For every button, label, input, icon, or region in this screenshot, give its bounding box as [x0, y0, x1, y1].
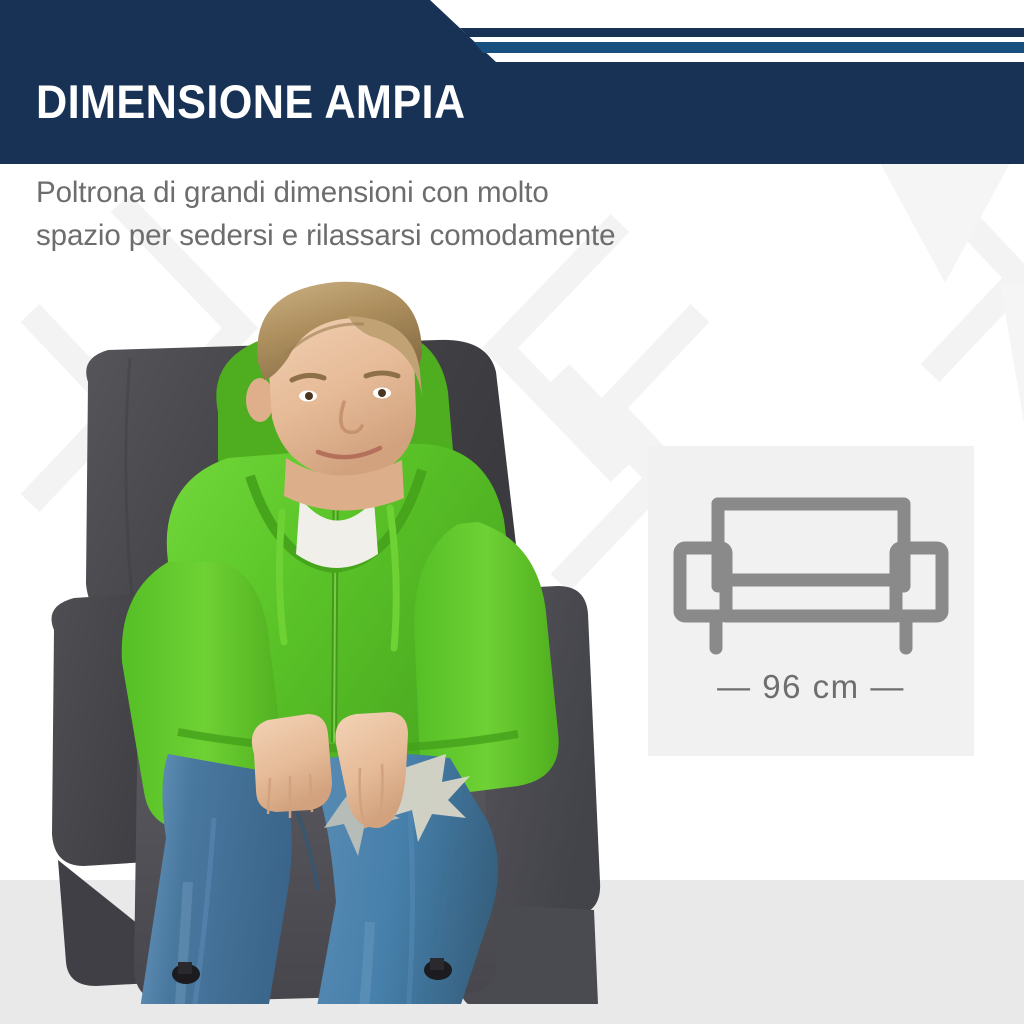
subtitle-block: Poltrona di grandi dimensioni con molto …: [36, 172, 736, 258]
header-banner: DIMENSIONE AMPIA: [0, 0, 1024, 164]
header-stripe-blue: [474, 42, 1024, 53]
header-stripe-navy: [460, 28, 1024, 37]
promo-banner: DIMENSIONE AMPIA Poltrona di grandi dime…: [0, 0, 1024, 1024]
dimension-panel: — 96 cm —: [648, 446, 974, 756]
armchair-icon: [672, 470, 950, 660]
dimension-label: — 96 cm —: [648, 668, 974, 706]
page-title: DIMENSIONE AMPIA: [36, 78, 466, 125]
product-photo: [18, 262, 618, 1004]
subtitle-line-2: spazio per sedersi e rilassarsi comodame…: [36, 215, 736, 258]
man-in-recliner-illustration: [18, 262, 618, 1004]
subtitle-line-1: Poltrona di grandi dimensioni con molto: [36, 172, 736, 215]
